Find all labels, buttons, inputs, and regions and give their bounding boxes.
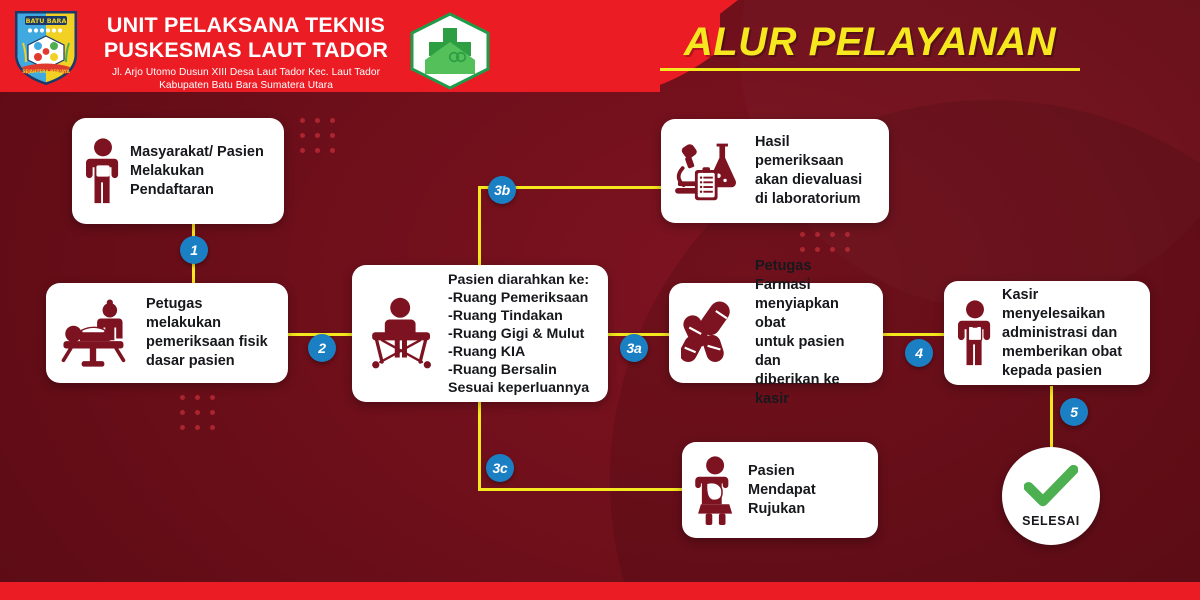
badge-3a: 3a bbox=[620, 334, 648, 362]
badge-5: 5 bbox=[1060, 398, 1088, 426]
finish-label: SELESAI bbox=[1022, 514, 1080, 528]
patient-on-bed-icon bbox=[364, 294, 440, 374]
staff-with-clipboard-icon bbox=[956, 299, 994, 367]
organization-text-block: UNIT PELAKSANA TEKNIS PUSKESMAS LAUT TAD… bbox=[96, 13, 396, 92]
dot-decoration-top bbox=[300, 118, 335, 153]
step-card-referral-text: Pasien Mendapat Rujukan bbox=[748, 462, 866, 519]
step-card-laboratory[interactable]: Hasil pemeriksaan akan dievaluasi di lab… bbox=[661, 119, 889, 223]
step-card-registration[interactable]: Masyarakat/ Pasien Melakukan Pendaftaran bbox=[72, 118, 284, 224]
connector-3b-vertical bbox=[478, 186, 481, 270]
pregnant-woman-icon bbox=[694, 455, 740, 525]
connector-4 bbox=[882, 333, 950, 336]
badge-3b: 3b bbox=[488, 176, 516, 204]
step-card-pharmacy-text: Petugas Farmasi menyiapkan obat untuk pa… bbox=[755, 257, 871, 409]
step-card-physical-exam[interactable]: Petugas melakukan pemeriksaan fisik dasa… bbox=[46, 283, 288, 383]
step-card-cashier-text: Kasir menyelesaikan administrasi dan mem… bbox=[1002, 286, 1138, 381]
step-card-physical-exam-text: Petugas melakukan pemeriksaan fisik dasa… bbox=[146, 295, 276, 371]
step-card-registration-text: Masyarakat/ Pasien Melakukan Pendaftaran bbox=[130, 143, 264, 200]
standing-person-icon bbox=[84, 137, 122, 205]
step-card-referral[interactable]: Pasien Mendapat Rujukan bbox=[682, 442, 878, 538]
footer-bar bbox=[0, 582, 1200, 600]
green-check-mark-icon bbox=[1024, 465, 1078, 512]
org-address-line-2: Kabupaten Batu Bara Sumatera Utara bbox=[96, 79, 396, 92]
svg-text:SEJAHTERA BERJAYA: SEJAHTERA BERJAYA bbox=[22, 69, 70, 74]
badge-4: 4 bbox=[905, 339, 933, 367]
svg-text:BATU BARA: BATU BARA bbox=[26, 17, 67, 25]
org-name-line-1: UNIT PELAKSANA TEKNIS bbox=[96, 13, 396, 38]
badge-2: 2 bbox=[308, 334, 336, 362]
badge-1: 1 bbox=[180, 236, 208, 264]
page-title: ALUR PELAYANAN bbox=[650, 20, 1090, 65]
step-card-laboratory-text: Hasil pemeriksaan akan dievaluasi di lab… bbox=[755, 133, 877, 209]
microscope-flask-clipboard-icon bbox=[673, 138, 747, 204]
dot-decoration-left bbox=[180, 395, 215, 430]
page-title-underline bbox=[660, 68, 1080, 71]
batu-bara-crest-icon: BATU BARA SEJAHTERA BERJAYA bbox=[8, 5, 84, 89]
connector-5 bbox=[1050, 386, 1053, 450]
badge-3c: 3c bbox=[486, 454, 514, 482]
org-address-line-1: Jl. Arjo Utomo Dusun XIII Desa Laut Tado… bbox=[96, 66, 396, 79]
step-card-room-direction[interactable]: Pasien diarahkan ke: -Ruang Pemeriksaan … bbox=[352, 265, 608, 402]
step-card-pharmacy[interactable]: Petugas Farmasi menyiapkan obat untuk pa… bbox=[669, 283, 883, 383]
doctor-examining-patient-icon bbox=[58, 299, 138, 367]
infographic-canvas: BATU BARA SEJAHTERA BERJAYA UNIT PELAKSA… bbox=[0, 0, 1200, 600]
org-name-line-2: PUSKESMAS LAUT TADOR bbox=[96, 38, 396, 63]
step-card-room-direction-text: Pasien diarahkan ke: -Ruang Pemeriksaan … bbox=[448, 271, 589, 397]
finish-badge[interactable]: SELESAI bbox=[1002, 447, 1100, 545]
pills-capsules-icon bbox=[681, 301, 747, 365]
green-cross-hexagon-health-logo-icon bbox=[405, 12, 495, 90]
dot-decoration-right bbox=[800, 232, 850, 252]
connector-3c-horizontal bbox=[478, 488, 686, 491]
connector-3c-vertical bbox=[478, 398, 481, 490]
step-card-cashier[interactable]: Kasir menyelesaikan administrasi dan mem… bbox=[944, 281, 1150, 385]
